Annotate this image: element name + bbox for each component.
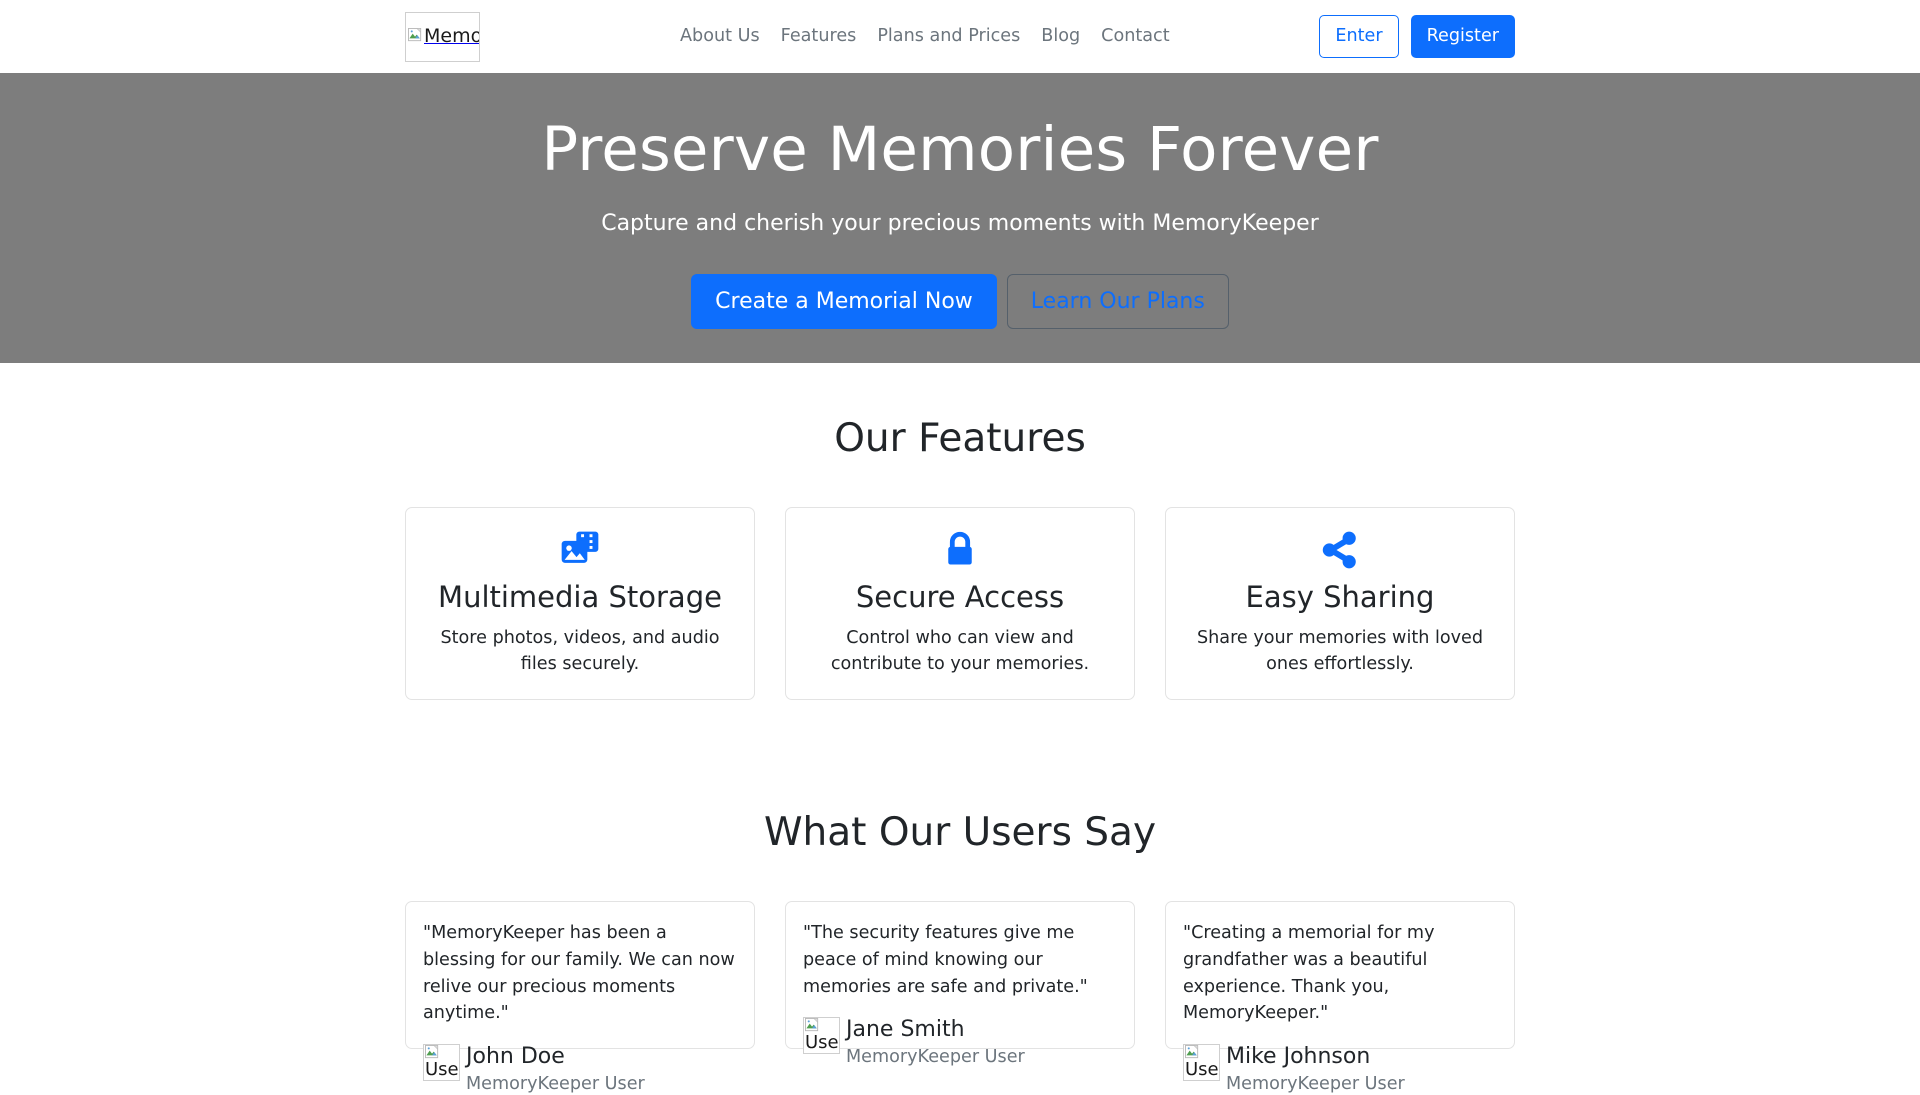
feature-text: Store photos, videos, and audio files se…	[426, 625, 734, 678]
feature-text: Control who can view and contribute to y…	[806, 625, 1114, 678]
testimonial-person: User Mike Johnson MemoryKeeper User	[1183, 1044, 1497, 1095]
lock-icon	[806, 528, 1114, 573]
broken-image-icon	[805, 1018, 820, 1033]
features-section: Our Features Multimedia Storage Store ph…	[405, 363, 1515, 700]
enter-button[interactable]: Enter	[1319, 15, 1398, 57]
broken-image-icon	[1185, 1045, 1200, 1060]
testimonial-name: John Doe	[466, 1044, 645, 1070]
feature-title: Easy Sharing	[1186, 580, 1494, 615]
testimonial-card: "The security features give me peace of …	[785, 901, 1135, 1049]
broken-image-icon	[425, 1045, 440, 1060]
hero-actions: Create a Memorial Now Learn Our Plans	[691, 274, 1229, 329]
feature-card-secure-access: Secure Access Control who can view and c…	[785, 507, 1135, 701]
hero-title: Preserve Memories Forever	[541, 113, 1378, 186]
hero-section: Preserve Memories Forever Capture and ch…	[0, 73, 1920, 363]
avatar-alt-text: User	[1185, 1061, 1220, 1079]
avatar: User	[803, 1017, 840, 1054]
media-collection-icon	[426, 528, 734, 573]
create-memorial-button[interactable]: Create a Memorial Now	[691, 274, 997, 329]
testimonial-role: MemoryKeeper User	[846, 1047, 1025, 1068]
primary-nav: About Us Features Plans and Prices Blog …	[680, 28, 1170, 46]
testimonial-card: "MemoryKeeper has been a blessing for ou…	[405, 901, 755, 1049]
nav-link-plans-and-prices[interactable]: Plans and Prices	[877, 28, 1020, 46]
testimonial-role: MemoryKeeper User	[466, 1074, 645, 1095]
testimonial-quote: "MemoryKeeper has been a blessing for ou…	[423, 920, 737, 1027]
features-title: Our Features	[405, 416, 1515, 463]
avatar: User	[1183, 1044, 1220, 1081]
feature-card-easy-sharing: Easy Sharing Share your memories with lo…	[1165, 507, 1515, 701]
logo-alt-text: MemoryKeep	[424, 27, 480, 46]
top-navbar: MemoryKeep About Us Features Plans and P…	[0, 0, 1920, 73]
testimonial-name: Mike Johnson	[1226, 1044, 1405, 1070]
feature-card-multimedia-storage: Multimedia Storage Store photos, videos,…	[405, 507, 755, 701]
testimonial-role: MemoryKeeper User	[1226, 1074, 1405, 1095]
testimonial-quote: "The security features give me peace of …	[803, 920, 1117, 1000]
testimonials-card-row: "MemoryKeeper has been a blessing for ou…	[405, 901, 1515, 1049]
testimonials-section: What Our Users Say "MemoryKeeper has bee…	[405, 700, 1515, 1049]
testimonial-person: User John Doe MemoryKeeper User	[423, 1044, 737, 1095]
testimonial-meta: John Doe MemoryKeeper User	[466, 1044, 645, 1095]
avatar-alt-text: User	[425, 1061, 460, 1079]
avatar-alt-text: User	[805, 1034, 840, 1052]
feature-title: Secure Access	[806, 580, 1114, 615]
nav-link-contact[interactable]: Contact	[1101, 28, 1169, 46]
learn-our-plans-button[interactable]: Learn Our Plans	[1007, 274, 1229, 329]
testimonial-meta: Jane Smith MemoryKeeper User	[846, 1017, 1025, 1068]
broken-image-icon	[408, 28, 423, 43]
nav-link-features[interactable]: Features	[781, 28, 857, 46]
testimonial-meta: Mike Johnson MemoryKeeper User	[1226, 1044, 1405, 1095]
hero-subtitle: Capture and cherish your precious moment…	[601, 207, 1319, 240]
nav-link-blog[interactable]: Blog	[1041, 28, 1080, 46]
testimonial-name: Jane Smith	[846, 1017, 1025, 1043]
testimonial-quote: "Creating a memorial for my grandfather …	[1183, 920, 1497, 1027]
navbar-actions: Enter Register	[1319, 15, 1515, 57]
testimonials-title: What Our Users Say	[405, 810, 1515, 857]
site-logo[interactable]: MemoryKeep	[405, 12, 480, 62]
features-card-row: Multimedia Storage Store photos, videos,…	[405, 507, 1515, 701]
avatar: User	[423, 1044, 460, 1081]
testimonial-card: "Creating a memorial for my grandfather …	[1165, 901, 1515, 1049]
testimonial-person: User Jane Smith MemoryKeeper User	[803, 1017, 1117, 1068]
share-icon	[1186, 528, 1494, 573]
feature-title: Multimedia Storage	[426, 580, 734, 615]
logo-broken-image: MemoryKeep	[406, 13, 479, 61]
nav-link-about-us[interactable]: About Us	[680, 28, 760, 46]
register-button[interactable]: Register	[1411, 15, 1515, 57]
feature-text: Share your memories with loved ones effo…	[1186, 625, 1494, 678]
